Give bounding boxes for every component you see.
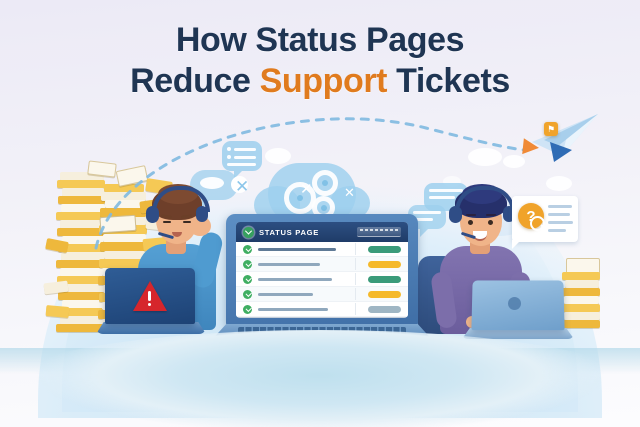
cloud-icon: [503, 155, 525, 168]
row-divider: [355, 273, 356, 285]
cloud-icon: [468, 148, 502, 166]
bubble-text-line: [429, 189, 463, 192]
table-row[interactable]: [236, 302, 408, 317]
status-badge: [368, 261, 401, 268]
cloud-icon: [546, 176, 572, 191]
warning-exclamation: [148, 291, 151, 301]
status-page-header: STATUS PAGE: [236, 222, 408, 242]
bubble-text-line: [234, 156, 256, 159]
gear-icon: [312, 170, 338, 196]
row-divider: [355, 303, 356, 315]
status-row-list: [236, 242, 408, 317]
check-icon: [243, 245, 252, 254]
illustration-canvas: ✕ ✕ ✕ ✕: [0, 0, 640, 427]
bubble-text-line: [234, 148, 256, 151]
status-badge: [368, 291, 401, 298]
title-prefix: Reduce: [130, 62, 259, 100]
card-text-line: [548, 229, 566, 232]
title-suffix: Tickets: [387, 62, 510, 100]
cloud-icon: [200, 177, 224, 189]
status-badge: [368, 276, 401, 283]
row-divider: [355, 258, 356, 270]
title-line-2: Reduce Support Tickets: [0, 61, 640, 102]
title-line-1: How Status Pages: [176, 21, 464, 59]
check-icon: [243, 275, 252, 284]
check-icon: [243, 290, 252, 299]
cloud-icon: [265, 148, 291, 164]
paper-plane-icon: [528, 112, 600, 172]
bullet-dot: [227, 155, 231, 159]
card-text-line: [548, 221, 573, 224]
page-title: How Status Pages Reduce Support Tickets: [0, 20, 640, 103]
status-badge: [368, 306, 401, 313]
check-icon: [243, 260, 252, 269]
card-tail: [512, 240, 521, 249]
check-icon: [243, 305, 252, 314]
x-mark-icon: ✕: [344, 186, 355, 199]
card-text-line: [548, 205, 572, 208]
x-mark-icon: ✕: [300, 182, 313, 197]
flag-badge-icon: ⚑: [544, 122, 558, 136]
header-meta-placeholder: [357, 227, 401, 237]
service-name-line: [258, 248, 336, 251]
bullet-dot: [227, 147, 231, 151]
row-divider: [355, 288, 356, 300]
status-badge: [368, 246, 401, 253]
table-row[interactable]: [236, 272, 408, 287]
bubble-text-line: [227, 163, 256, 166]
service-name-line: [258, 308, 328, 311]
bubble-text-line: [413, 211, 441, 214]
warning-exclamation-dot: [148, 303, 151, 306]
status-page-title: STATUS PAGE: [259, 228, 319, 237]
table-row[interactable]: [236, 242, 408, 257]
card-text-line: [548, 213, 570, 216]
table-row[interactable]: [236, 257, 408, 272]
bubble-text-line: [429, 196, 455, 199]
row-divider: [355, 243, 356, 255]
check-circle-icon: [243, 227, 254, 238]
service-name-line: [258, 263, 320, 266]
service-name-line: [258, 278, 332, 281]
service-name-line: [258, 293, 313, 296]
laptop-logo-icon: [508, 297, 521, 310]
x-mark-icon: ✕: [235, 178, 249, 195]
table-row[interactable]: [236, 287, 408, 302]
title-accent: Support: [260, 62, 388, 100]
status-page-screen[interactable]: STATUS PAGE: [236, 222, 408, 318]
